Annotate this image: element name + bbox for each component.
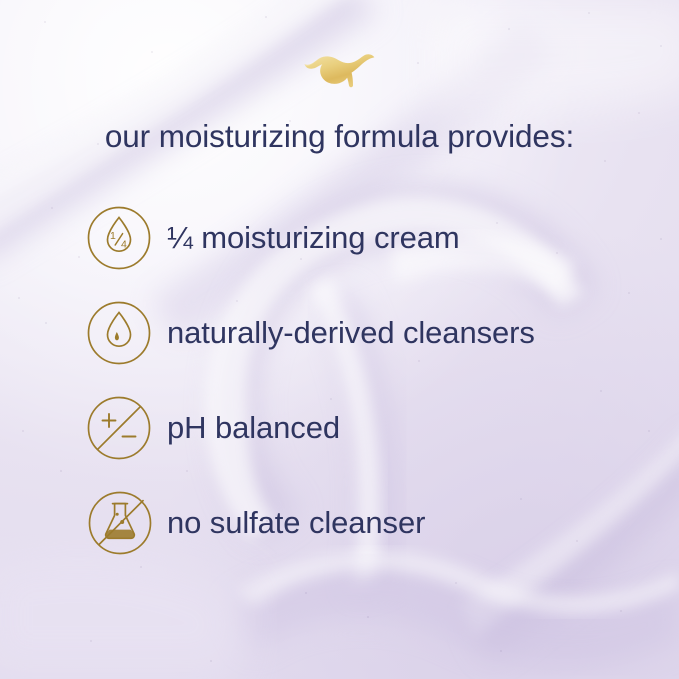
- quarter-moisturizing-cream-droplet-icon: 1 4: [86, 205, 152, 271]
- svg-text:1: 1: [110, 230, 116, 242]
- no-sulfate-flask-crossed-out-icon: [86, 489, 154, 557]
- benefits-list: 1 4 ¼ moisturizing cream naturally-d: [86, 190, 535, 570]
- benefit-label: ¼ moisturizing cream: [167, 220, 460, 256]
- dove-logo: [0, 44, 679, 88]
- benefit-icon-cell: [86, 395, 164, 461]
- benefit-icon-cell: [86, 300, 164, 366]
- list-item: naturally-derived cleansers: [86, 285, 535, 380]
- droplet-icon: [86, 300, 152, 366]
- list-item: 1 4 ¼ moisturizing cream: [86, 190, 535, 285]
- svg-text:4: 4: [121, 238, 127, 250]
- list-item: pH balanced: [86, 380, 535, 475]
- benefit-icon-cell: [86, 489, 164, 557]
- list-item: no sulfate cleanser: [86, 475, 535, 570]
- page-title: our moisturizing formula provides:: [0, 118, 679, 155]
- benefit-label: naturally-derived cleansers: [167, 315, 535, 351]
- ph-balanced-plus-minus-icon: [86, 395, 152, 461]
- benefit-icon-cell: 1 4: [86, 205, 164, 271]
- benefit-label: no sulfate cleanser: [167, 505, 425, 541]
- benefit-label: pH balanced: [167, 410, 340, 446]
- product-benefits-infographic: our moisturizing formula provides: 1: [0, 0, 679, 679]
- dove-icon: [304, 44, 376, 88]
